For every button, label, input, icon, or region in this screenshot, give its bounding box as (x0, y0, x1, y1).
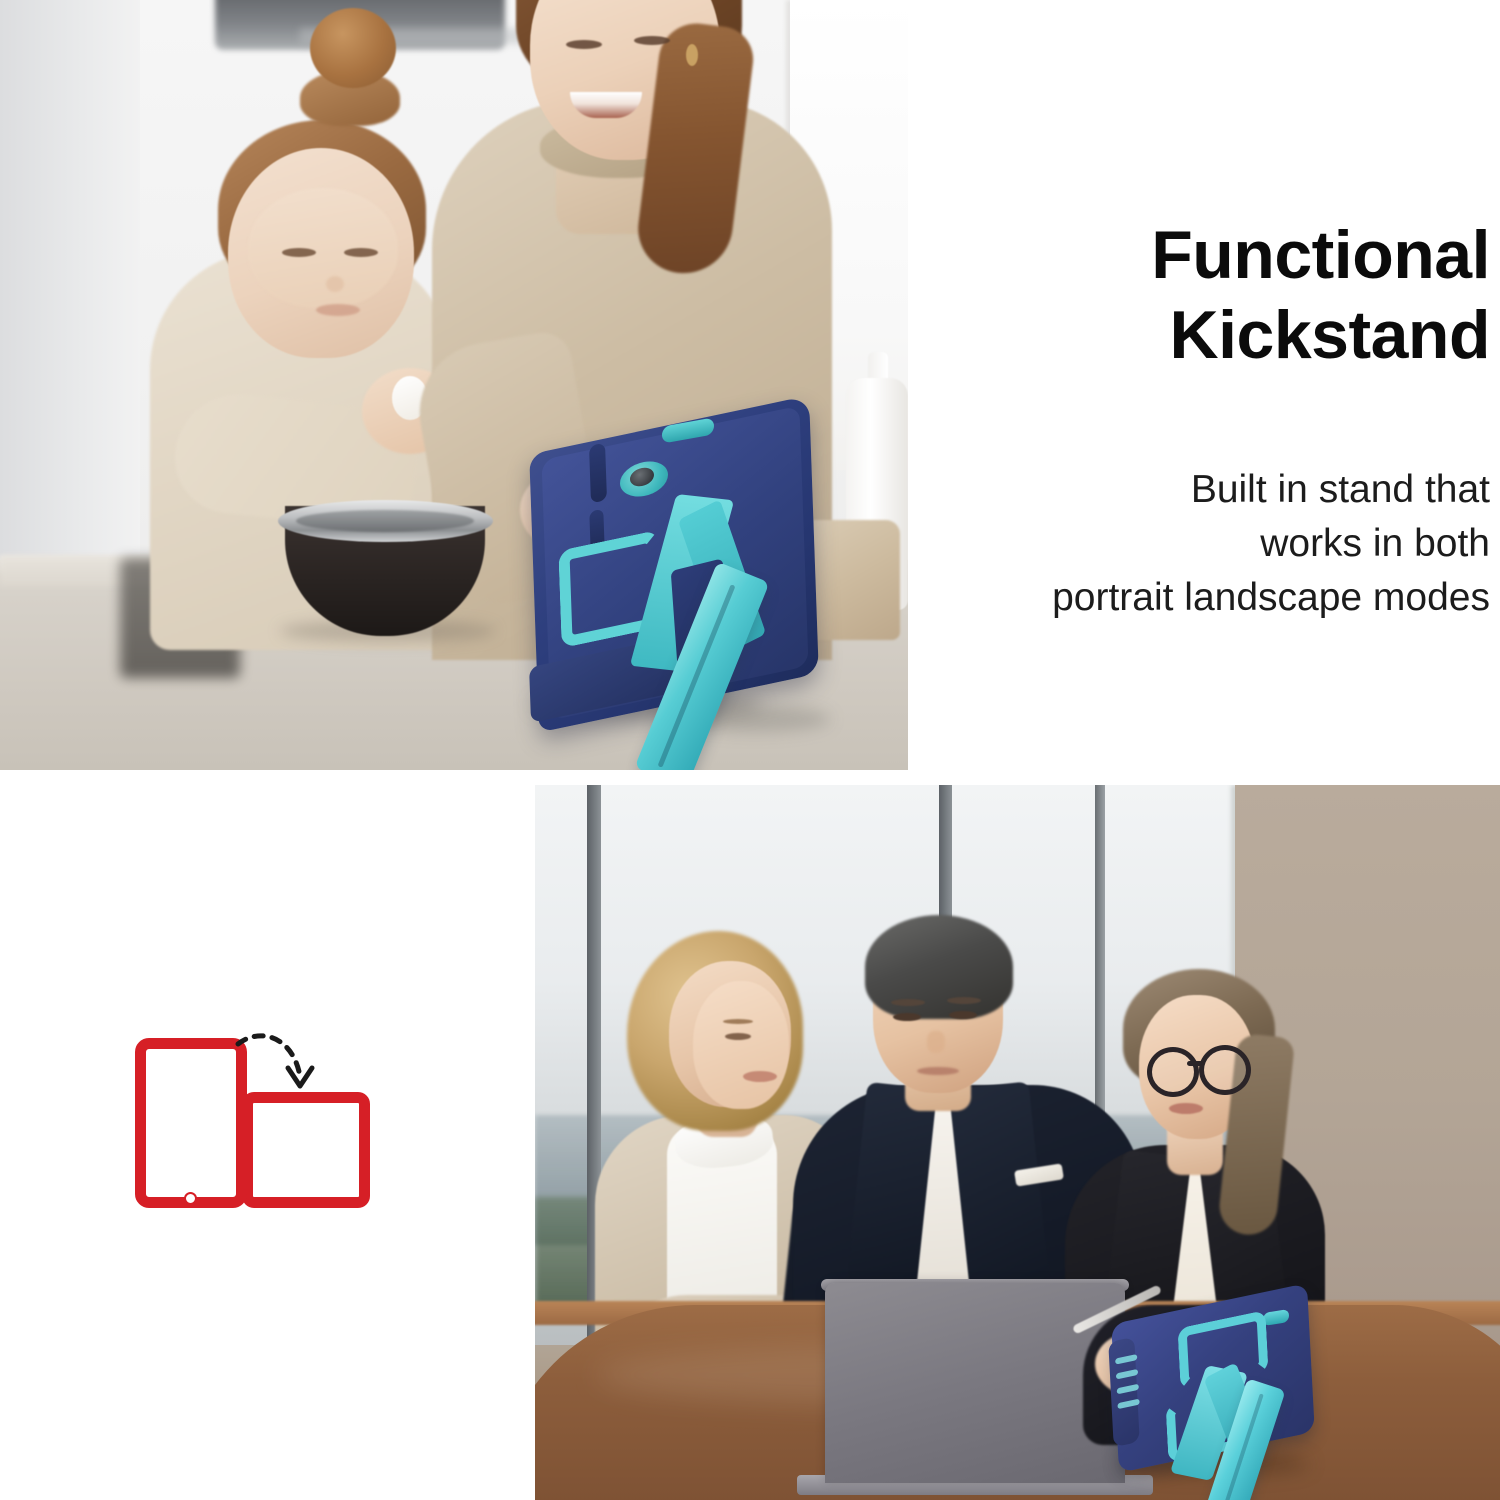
kitchen-left-wall (0, 0, 150, 640)
eyeglasses-lens-left-icon (1147, 1047, 1199, 1097)
colleague-2-eyebrow-right (947, 997, 981, 1004)
landscape-tablet-icon (242, 1092, 370, 1208)
child-face (248, 188, 398, 308)
tablet-case-kitchen (524, 414, 840, 724)
subcopy-line-2: works in both (950, 517, 1490, 571)
colleague-1-eye (725, 1033, 751, 1040)
child-hair-bun (310, 8, 396, 88)
subcopy-line-1: Built in stand that (950, 463, 1490, 517)
colleague-2-eyebrow-left (891, 999, 925, 1006)
portrait-tablet-icon (135, 1038, 247, 1208)
case-grip-ribs (1115, 1345, 1142, 1441)
laptop-lid (825, 1283, 1125, 1483)
page-title: Functional Kickstand (950, 215, 1490, 375)
portrait-to-landscape-rotation-icon (130, 1030, 380, 1215)
colleague-2-eye-left (893, 1013, 921, 1021)
home-button-icon (184, 1192, 197, 1205)
mother-eye-left (566, 40, 602, 49)
headline-line-1: Functional (1151, 217, 1490, 293)
colleague-2-mouth (917, 1067, 959, 1075)
mother-eye-right (634, 36, 670, 45)
child-nose (326, 276, 344, 292)
colleague-2-eye-right (949, 1011, 977, 1019)
tablet-case-office (1095, 1285, 1345, 1500)
child-eye-right (344, 248, 378, 257)
rotation-arrow-icon (234, 1028, 324, 1106)
mixing-bowl-interior (296, 510, 474, 532)
feature-text-panel: Functional Kickstand Built in stand that… (950, 215, 1490, 625)
eyeglasses-bridge (1187, 1061, 1203, 1066)
colleague-2-nose (927, 1031, 945, 1053)
colleague-1-eyebrow (723, 1019, 753, 1024)
office-lifestyle-photo (535, 785, 1500, 1500)
eyeglasses-lens-right-icon (1199, 1045, 1251, 1095)
child-eye-left (282, 248, 316, 257)
feature-description: Built in stand that works in both portra… (950, 463, 1490, 624)
colleague-2-hair (865, 915, 1013, 1019)
case-side-button-upper (589, 443, 607, 504)
mother-earring (686, 44, 698, 66)
subcopy-line-3: portrait landscape modes (950, 571, 1490, 625)
headline-line-2: Kickstand (1170, 297, 1491, 373)
colleague-1-face (693, 981, 789, 1109)
marketing-infographic: Functional Kickstand Built in stand that… (0, 0, 1500, 1500)
colleague-3-lips (1169, 1103, 1203, 1114)
kitchen-lifestyle-photo (0, 0, 908, 770)
colleague-1-lips (743, 1071, 777, 1082)
child-mouth (316, 304, 360, 316)
